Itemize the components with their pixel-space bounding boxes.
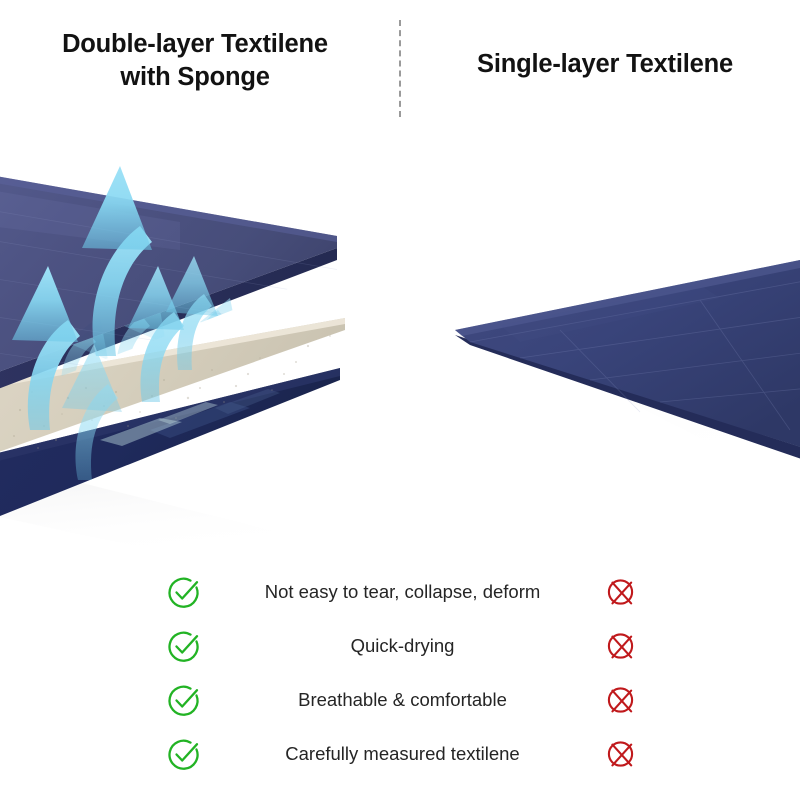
left-column-title-line2: with Sponge (10, 61, 380, 94)
product-comparison-infographic: Double-layer Textilene with Sponge Singl… (0, 0, 800, 800)
feature-row: Quick-drying (0, 619, 800, 673)
x-circle-icon (603, 574, 639, 610)
feature-label: Breathable & comfortable (210, 689, 595, 711)
left-column-title: Double-layer Textilene with Sponge (10, 28, 380, 93)
feature-label: Quick-drying (210, 635, 595, 657)
fabric-illustration (0, 130, 800, 560)
double-layer-stack (0, 166, 345, 520)
check-circle-icon (166, 628, 202, 664)
feature-label: Carefully measured textilene (210, 743, 595, 765)
feature-row: Carefully measured textilene (0, 727, 800, 781)
right-column-title: Single-layer Textilene (420, 48, 790, 81)
feature-row: Not easy to tear, collapse, deform (0, 565, 800, 619)
vertical-dashed-divider (399, 20, 401, 117)
check-circle-icon (166, 574, 202, 610)
left-column-title-line1: Double-layer Textilene (10, 28, 380, 61)
check-circle-icon (166, 682, 202, 718)
x-circle-icon (603, 628, 639, 664)
check-circle-icon (166, 736, 202, 772)
x-circle-icon (603, 682, 639, 718)
feature-row: Breathable & comfortable (0, 673, 800, 727)
feature-comparison-list: Not easy to tear, collapse, deform Quick… (0, 565, 800, 781)
feature-label: Not easy to tear, collapse, deform (210, 581, 595, 603)
x-circle-icon (603, 736, 639, 772)
single-layer-sheet (455, 258, 800, 462)
